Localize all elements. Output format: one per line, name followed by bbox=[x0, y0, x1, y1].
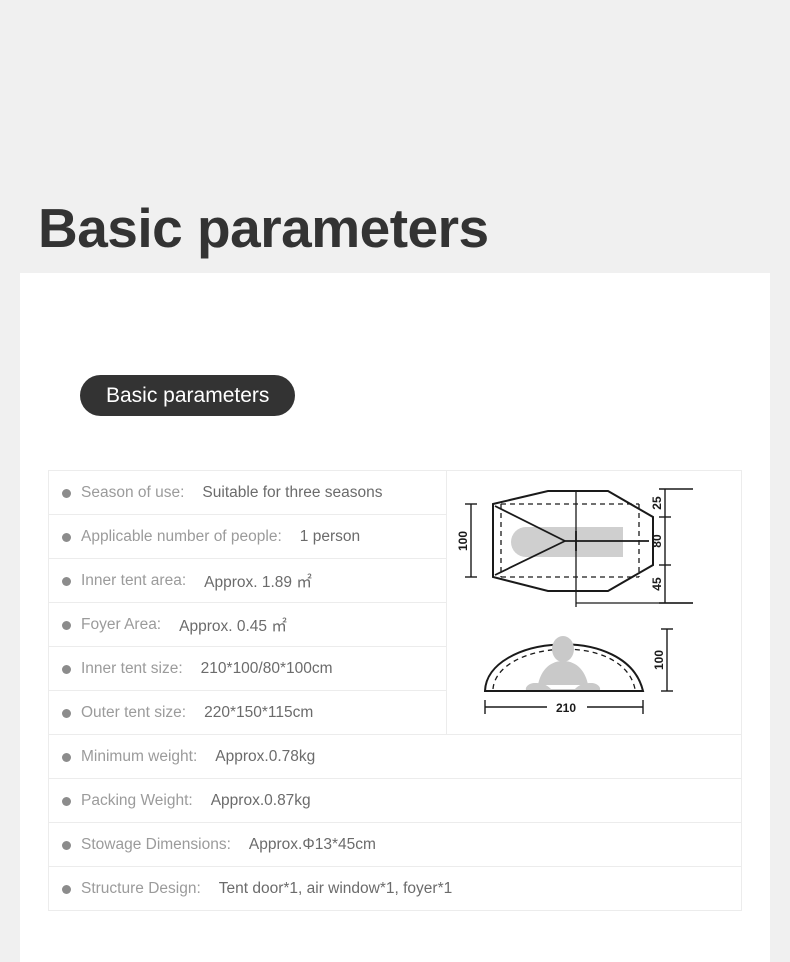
spec-value: 220*150*115cm bbox=[204, 704, 313, 722]
dim-label-right-top: 25 bbox=[650, 496, 664, 510]
table-row: Applicable number of people: 1 person bbox=[49, 515, 446, 559]
tent-side-view-diagram: 100 210 bbox=[477, 615, 702, 720]
spec-label: Minimum weight: bbox=[81, 748, 197, 766]
table-row: Season of use: Suitable for three season… bbox=[49, 471, 446, 515]
table-row: Inner tent size: 210*100/80*100cm bbox=[49, 647, 446, 691]
bullet-icon bbox=[62, 533, 71, 542]
table-row: Stowage Dimensions: Approx.Φ13*45cm bbox=[49, 823, 741, 867]
spec-value: Approx. 0.45 ㎡ bbox=[179, 614, 287, 636]
table-top-block: Season of use: Suitable for three season… bbox=[49, 471, 741, 735]
table-row: Foyer Area: Approx. 0.45 ㎡ bbox=[49, 603, 446, 647]
basic-parameters-card: Basic parameters Season of use: Suitable… bbox=[20, 273, 770, 962]
spec-label: Inner tent area: bbox=[81, 572, 186, 590]
table-left-column: Season of use: Suitable for three season… bbox=[49, 471, 447, 735]
dim-label-side-width: 210 bbox=[556, 701, 576, 715]
dim-label-right-bottom: 45 bbox=[650, 577, 664, 591]
table-diagram-cell: 100 bbox=[447, 471, 741, 735]
spec-value: 210*100/80*100cm bbox=[201, 660, 333, 678]
spec-value: 1 person bbox=[300, 528, 360, 546]
spec-label: Stowage Dimensions: bbox=[81, 836, 231, 854]
section-badge: Basic parameters bbox=[80, 375, 295, 416]
bullet-icon bbox=[62, 665, 71, 674]
spec-value: Approx.0.87kg bbox=[211, 792, 311, 810]
spec-label: Outer tent size: bbox=[81, 704, 186, 722]
spec-value: Approx. 1.89 ㎡ bbox=[204, 570, 312, 592]
spec-value: Approx.Φ13*45cm bbox=[249, 836, 376, 854]
table-bottom-block: Minimum weight: Approx.0.78kg Packing We… bbox=[49, 735, 741, 911]
spec-label: Structure Design: bbox=[81, 880, 201, 898]
page-title: Basic parameters bbox=[38, 195, 489, 261]
specifications-table: Season of use: Suitable for three season… bbox=[48, 470, 742, 911]
page-root: Basic parameters Basic parameters Season… bbox=[0, 0, 790, 962]
spec-label: Packing Weight: bbox=[81, 792, 193, 810]
spec-value: Tent door*1, air window*1, foyer*1 bbox=[219, 880, 453, 898]
spec-label: Season of use: bbox=[81, 484, 184, 502]
bullet-icon bbox=[62, 753, 71, 762]
bullet-icon bbox=[62, 489, 71, 498]
table-row: Structure Design: Tent door*1, air windo… bbox=[49, 867, 741, 911]
dim-label-left-height: 100 bbox=[456, 531, 470, 551]
table-row: Outer tent size: 220*150*115cm bbox=[49, 691, 446, 735]
table-row: Minimum weight: Approx.0.78kg bbox=[49, 735, 741, 779]
bullet-icon bbox=[62, 885, 71, 894]
bullet-icon bbox=[62, 709, 71, 718]
bullet-icon bbox=[62, 621, 71, 630]
spec-value: Suitable for three seasons bbox=[202, 484, 382, 502]
table-row: Inner tent area: Approx. 1.89 ㎡ bbox=[49, 559, 446, 603]
person-silhouette-icon bbox=[526, 636, 600, 690]
tent-top-view-diagram: 100 bbox=[453, 479, 713, 609]
spec-label: Inner tent size: bbox=[81, 660, 183, 678]
bullet-icon bbox=[62, 797, 71, 806]
dim-label-right-middle: 80 bbox=[650, 534, 664, 548]
table-row: Packing Weight: Approx.0.87kg bbox=[49, 779, 741, 823]
bullet-icon bbox=[62, 577, 71, 586]
section-badge-label: Basic parameters bbox=[106, 384, 269, 408]
spec-value: Approx.0.78kg bbox=[215, 748, 315, 766]
bullet-icon bbox=[62, 841, 71, 850]
spec-label: Foyer Area: bbox=[81, 616, 161, 634]
dim-label-side-height: 100 bbox=[652, 650, 666, 670]
diagram-container: 100 bbox=[447, 471, 741, 734]
spec-label: Applicable number of people: bbox=[81, 528, 282, 546]
